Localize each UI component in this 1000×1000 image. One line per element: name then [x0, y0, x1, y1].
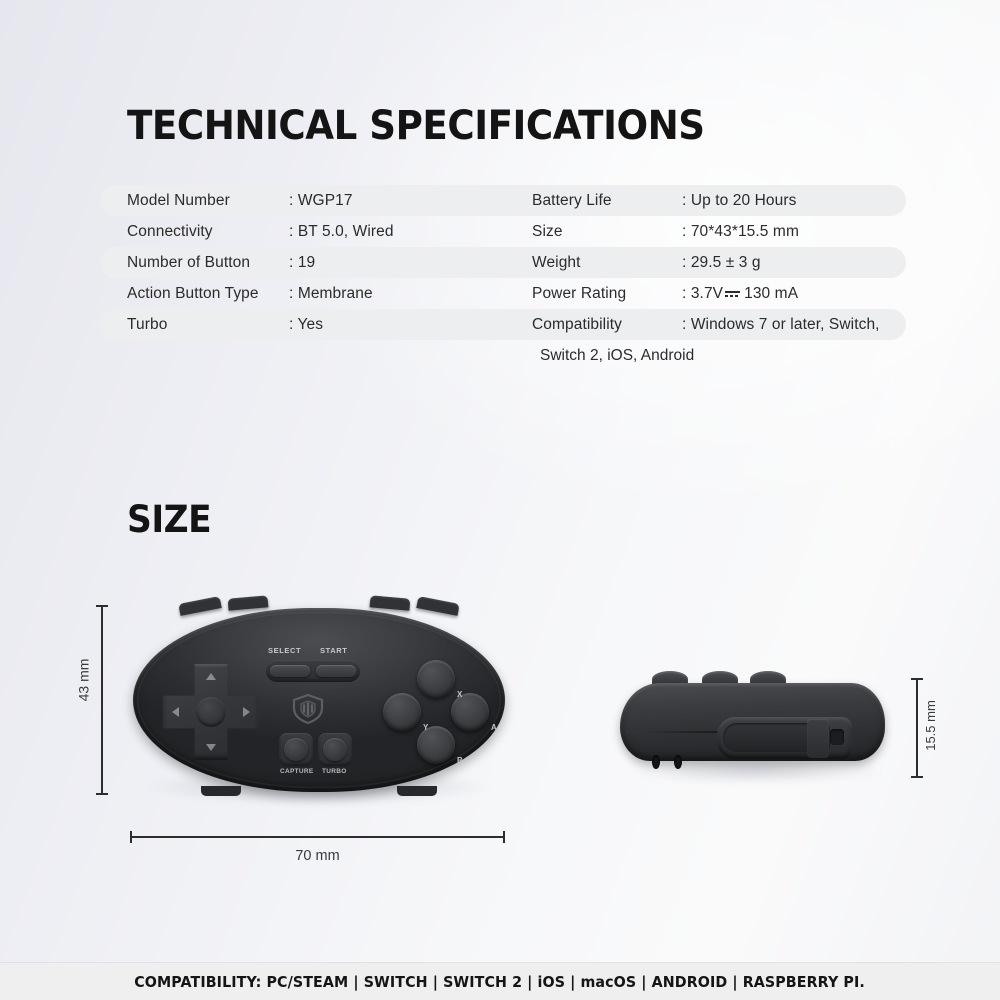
power-voltage: : 3.7V [682, 285, 723, 302]
side-tab [807, 719, 829, 758]
select-start-cluster: SELECT START [266, 660, 360, 682]
screw-hole-1 [652, 755, 660, 769]
spec-cell-left: Connectivity : BT 5.0, Wired [100, 223, 532, 241]
select-start-plate [266, 660, 360, 682]
dpad-plate [163, 664, 259, 760]
table-row: Turbo : Yes Compatibility : Windows 7 or… [100, 309, 906, 340]
dpad-hub [196, 697, 226, 727]
turbo-button-label: TURBO [322, 768, 347, 775]
body-seam-line [626, 731, 718, 733]
start-button-label: START [320, 646, 347, 655]
usb-port [830, 729, 844, 745]
dpad [163, 664, 259, 760]
spec-cell-left: Number of Button : 19 [100, 254, 532, 272]
table-row: Action Button Type : Membrane Power Rati… [100, 278, 906, 309]
spec-value: : BT 5.0, Wired [289, 223, 394, 241]
start-button [316, 665, 356, 677]
spec-value-continuation: Switch 2, iOS, Android [532, 347, 906, 365]
spec-value: : Up to 20 Hours [682, 192, 796, 210]
select-button-label: SELECT [268, 646, 301, 655]
spec-cell-right: Weight : 29.5 ± 3 g [532, 254, 906, 272]
thickness-dimension-label: 15.5 mm [923, 700, 938, 751]
dpad-right-icon [243, 707, 250, 717]
face-button-x [417, 660, 455, 698]
spec-label: Compatibility [532, 316, 682, 334]
shoulder-button-r2 [370, 595, 411, 610]
spec-label: Action Button Type [127, 285, 289, 303]
compatibility-text: COMPATIBILITY: PC/STEAM | SWITCH | SWITC… [135, 973, 866, 991]
dpad-down-icon [206, 744, 216, 751]
gamepad-front-view-image: SELECT START CAPTURE TURBO X [133, 600, 505, 800]
spec-label: Battery Life [532, 192, 682, 210]
select-button [270, 665, 310, 677]
spec-cell-right: Size : 70*43*15.5 mm [532, 223, 906, 241]
spec-cell-right: Battery Life : Up to 20 Hours [532, 192, 906, 210]
spec-value: : 19 [289, 254, 315, 272]
spec-label: Weight [532, 254, 682, 272]
spec-value: : Membrane [289, 285, 373, 303]
compatibility-bar: COMPATIBILITY: PC/STEAM | SWITCH | SWITC… [0, 962, 1000, 1000]
spec-value: : 70*43*15.5 mm [682, 223, 799, 241]
capture-button-label: CAPTURE [280, 768, 314, 775]
gamepad-side-body [620, 683, 885, 761]
table-row-continuation: Switch 2, iOS, Android [100, 340, 906, 371]
spec-label: Turbo [127, 316, 289, 334]
gamepad-side-view-image [620, 665, 890, 780]
spec-value: : Yes [289, 316, 323, 334]
spec-value: : 29.5 ± 3 g [682, 254, 761, 272]
gamepad-foot-right [397, 786, 437, 796]
spec-value: : Windows 7 or later, Switch, [682, 316, 880, 334]
turbo-plate [318, 733, 352, 766]
spec-value-power: : 3.7V130 mA [682, 285, 798, 303]
width-dimension-line [130, 836, 505, 838]
spec-label: Size [532, 223, 682, 241]
face-button-y [383, 693, 421, 731]
face-button-a [451, 693, 489, 731]
dpad-left-icon [172, 707, 179, 717]
spec-cell-left: Turbo : Yes [100, 316, 532, 334]
table-row: Model Number : WGP17 Battery Life : Up t… [100, 185, 906, 216]
spec-cell-left: Model Number : WGP17 [100, 192, 532, 210]
power-current: 130 mA [744, 285, 798, 302]
shoulder-button-l1 [178, 596, 222, 616]
spec-label: Power Rating [532, 285, 682, 303]
brand-logo-icon [291, 693, 325, 725]
spec-value: : WGP17 [289, 192, 353, 210]
width-dimension-label: 70 mm [130, 848, 505, 864]
specifications-table: Model Number : WGP17 Battery Life : Up t… [100, 185, 906, 371]
page-title-technical-specifications: TECHNICAL SPECIFICATIONS [127, 103, 705, 149]
spec-label: Number of Button [127, 254, 289, 272]
screw-hole-2 [674, 755, 682, 769]
spec-cell-right: Power Rating : 3.7V130 mA [532, 285, 906, 303]
gamepad-body: SELECT START CAPTURE TURBO X [133, 608, 505, 792]
dpad-up-icon [206, 673, 216, 680]
gamepad-foot-left [201, 786, 241, 796]
table-row: Number of Button : 19 Weight : 29.5 ± 3 … [100, 247, 906, 278]
spec-label: Connectivity [127, 223, 289, 241]
page-title-size: SIZE [127, 498, 211, 541]
face-button-cluster: X Y A B [383, 660, 491, 770]
shoulder-button-r1 [416, 596, 460, 616]
face-button-a-label: A [491, 723, 497, 732]
thickness-dimension-line [916, 678, 918, 778]
height-dimension-line [101, 605, 103, 795]
face-button-y-label: Y [423, 723, 428, 732]
face-button-b [417, 726, 455, 764]
dc-current-icon [725, 290, 740, 299]
shoulder-button-l2 [228, 595, 269, 610]
height-dimension-label: 43 mm [75, 659, 91, 702]
spec-cell-left: Action Button Type : Membrane [100, 285, 532, 303]
turbo-button [323, 738, 347, 761]
capture-turbo-cluster: CAPTURE TURBO [279, 733, 373, 771]
spec-cell-right: Compatibility : Windows 7 or later, Swit… [532, 316, 906, 334]
capture-plate [279, 733, 313, 766]
face-button-x-label: X [457, 690, 462, 699]
capture-button [284, 738, 308, 761]
face-button-b-label: B [457, 756, 463, 765]
table-row: Connectivity : BT 5.0, Wired Size : 70*4… [100, 216, 906, 247]
spec-label: Model Number [127, 192, 289, 210]
